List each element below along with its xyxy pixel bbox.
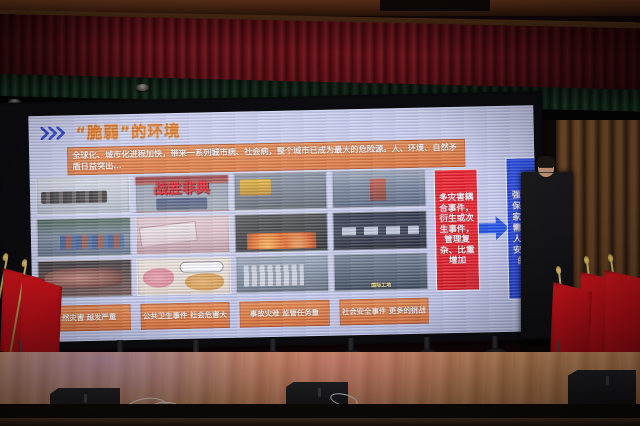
red-callout-text: 多灾害耦合事件，衍生或次生事件，管理复杂、比重增加 [436,192,478,267]
cartoon-cow [185,273,224,291]
monitor-handle [318,388,321,397]
category-label-public-health: 公共卫生事件 社会危害大 [140,302,230,330]
category-label-row: 自然灾害 越发严重 公共卫生事件 社会危害大 事故灾难 监管任务重 社会安全事件… [40,298,428,332]
photo-snow-disaster [36,176,131,215]
category-label-text: 公共卫生事件 社会危害大 [143,310,227,321]
intro-banner-text: 全球化、城市化进程加快，带来一系列城市病、社会病，整个城市已成为最大的危险源。人… [72,141,460,172]
ceiling-vent [380,0,490,12]
photo-industrial-fire [234,213,329,252]
floor-apron [0,418,640,426]
cartoon-speech-bubble [179,261,223,273]
speaker-person [536,156,556,178]
red-flag [602,270,640,364]
led-video-wall[interactable]: “脆弱”的环境 全球化、城市化进程加快，带来一系列城市病、社会病，整个城市已成为… [0,91,547,352]
presentation-slide: “脆弱”的环境 全球化、城市化进程加快，带来一系列城市病、社会病，整个城市已成为… [28,105,538,342]
slide-title-row: “脆弱”的环境 [40,119,180,144]
category-label-text: 事故灾难 监管任务重 [250,308,319,319]
photo-sanlu-milk-powder: 三鹿奶粉 [135,215,230,254]
stage-monitor-speaker [568,370,636,404]
sars-bicycle [156,197,208,210]
monitor-handle [606,376,609,385]
photo-livestock-cartoon [136,257,231,296]
sars-slogan-text: 战胜非典 [138,181,226,197]
auditorium-scene: “脆弱”的环境 全球化、城市化进程加快，带来一系列城市病、社会病，整个城市已成为… [0,0,640,426]
speaker-glasses-icon [539,167,553,173]
category-label-social-security: 社会安全事件 更多的挑战 [339,298,429,326]
speaker-hair [536,156,556,167]
right-arrow-icon [479,214,510,243]
monitor-handle [84,394,87,403]
category-label-text: 社会安全事件 更多的挑战 [342,306,426,317]
red-callout-box: 多灾害耦合事件，衍生或次生事件，管理复杂、比重增加 [434,168,481,291]
photo-collapsed-building [235,254,330,293]
triple-chevron-right-icon [41,126,71,140]
sanlu-label-text: 三鹿奶粉 [142,223,196,237]
led-panel-inner: “脆弱”的环境 全球化、城市化进程加快，带来一系列城市病、社会病，整个城市已成为… [0,93,545,350]
cartoon-pig [143,268,175,288]
photo-sars-banner: 战胜非典 [134,174,229,213]
photo-flood-rescue [332,170,427,209]
photo-street-protest [333,211,428,250]
photo-construction-site-protest: 国际工地 [334,252,429,291]
category-label-text: 自然灾害 越发严重 [55,313,117,324]
page-title: “脆弱”的环境 [75,119,180,143]
photo-flooded-village [37,217,132,256]
site-banner-text: 国际工地 [337,282,425,290]
stage-light [136,84,149,91]
photo-bus-crash [233,172,328,211]
category-label-accident-disaster: 事故灾难 监管任务重 [239,300,329,328]
photo-grid: 战胜非典 三鹿奶粉 [36,170,429,298]
